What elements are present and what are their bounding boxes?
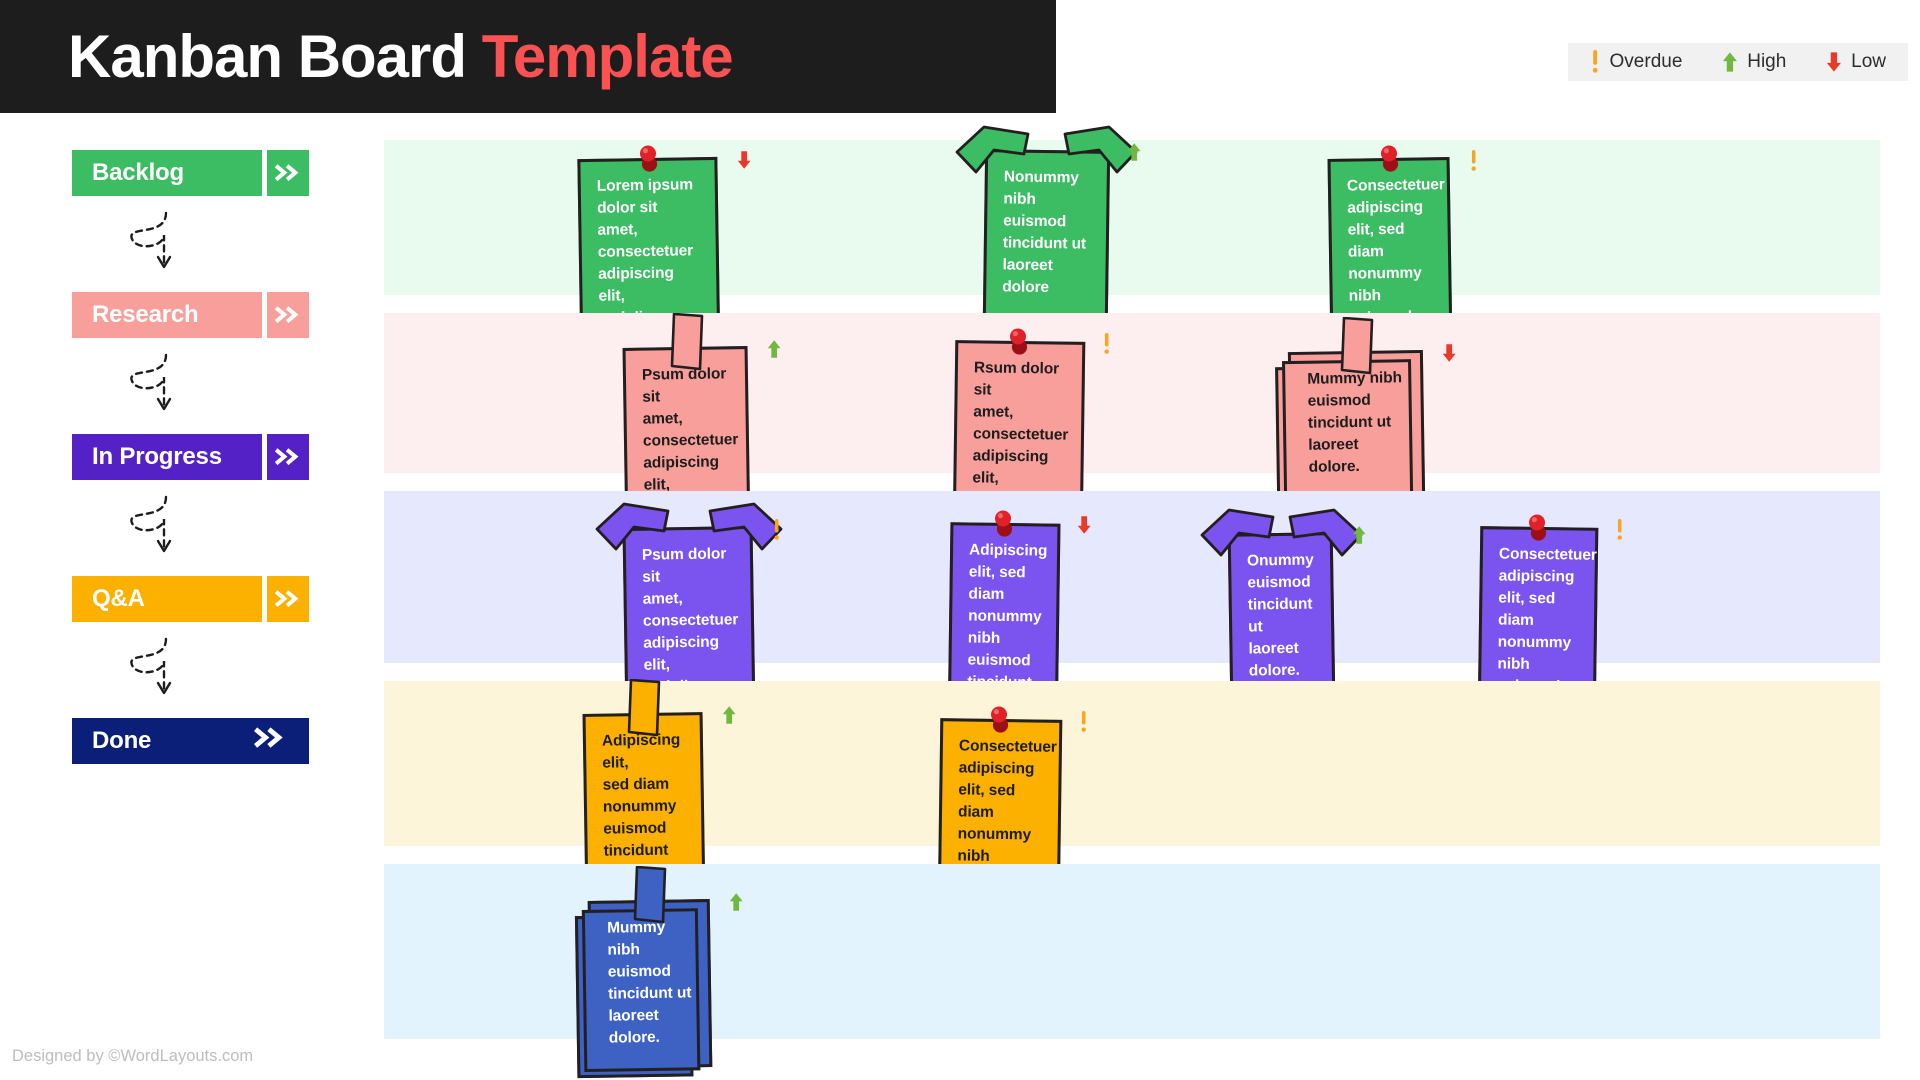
sticky-note-text: Adipiscing elit, sed diam nonummy euismo… — [602, 729, 686, 884]
exclamation-icon — [1079, 711, 1088, 733]
priority-flag-high — [729, 892, 743, 917]
priority-flag-high — [722, 705, 736, 730]
priority-flag-high — [767, 339, 781, 364]
sticky-note[interactable]: Mummy nibh euismod tincidunt ut laoreet … — [589, 900, 711, 1068]
board-rows: Lorem ipsum dolor sit amet, consectetuer… — [384, 140, 1880, 1057]
arrow-down-icon — [1442, 343, 1456, 363]
stage-label-4[interactable]: Done — [72, 718, 309, 764]
chevron-double-right-icon — [274, 448, 302, 465]
board-row-research: Psum dolor sit amet, consectetuer adipis… — [384, 313, 1880, 473]
stage-advance-icon[interactable] — [253, 727, 287, 755]
sidebar-stage-q-a: Q&A — [0, 576, 385, 718]
arrow-down-icon — [1826, 51, 1842, 73]
page-title: Kanban Board Template — [68, 27, 733, 87]
tape-strip-icon — [621, 679, 667, 741]
tape-corner-left — [954, 124, 1032, 191]
exclamation-icon — [1102, 333, 1111, 355]
pushpin-icon — [991, 509, 1017, 541]
arrow-up-icon — [1127, 142, 1141, 162]
stage-advance-button-2[interactable] — [267, 434, 309, 480]
arrow-down-icon — [1077, 515, 1091, 535]
chevron-double-right-icon — [274, 306, 302, 323]
chevron-double-right-icon — [274, 164, 302, 181]
priority-legend: OverdueHighLow — [1568, 43, 1908, 81]
legend-item-overdue: Overdue — [1590, 50, 1682, 74]
tape-strip-icon — [1334, 317, 1380, 379]
sticky-note[interactable]: Onummy euismod tincidunt ut laoreet dolo… — [1229, 533, 1334, 701]
sticky-note-text: Consectetuer adipiscing elit, sed diam n… — [1497, 543, 1579, 698]
priority-flag-high — [1352, 525, 1366, 550]
stage-connector-arrow-2 — [0, 480, 385, 576]
stage-label-0[interactable]: Backlog — [72, 150, 262, 196]
arrow-up-icon — [722, 705, 736, 725]
stage-connector-arrow-0 — [0, 196, 385, 292]
sticky-note-text: Rsum dolor sit amet, consectetuer adipis… — [972, 357, 1066, 512]
tape-corner-icon — [594, 501, 672, 563]
sticky-note[interactable]: Nonummy nibh euismod tincidunt ut laoree… — [984, 150, 1109, 318]
pushpin — [991, 509, 1017, 541]
priority-flag-low — [1442, 343, 1456, 368]
arrow-up-icon — [729, 892, 743, 912]
dashed-loop-arrow-icon — [120, 349, 182, 423]
stage-connector-arrow-3 — [0, 622, 385, 718]
sticky-note-text: Mummy nibh euismod tincidunt ut laoreet … — [607, 916, 693, 1049]
pushpin-icon — [1377, 144, 1403, 176]
priority-flag-low — [1077, 515, 1091, 540]
stage-sidebar: BacklogResearchIn ProgressQ&ADone — [0, 150, 385, 764]
board-row-in-progress: Psum dolor sit amet, consectetuer adipis… — [384, 491, 1880, 663]
arrow-up-icon — [1352, 525, 1366, 545]
title-banner: Kanban Board Template — [0, 0, 1056, 113]
legend-label: Overdue — [1610, 51, 1683, 73]
tape-strip — [1334, 317, 1380, 384]
stage-label-2[interactable]: In Progress — [72, 434, 262, 480]
board-row-backlog: Lorem ipsum dolor sit amet, consectetuer… — [384, 140, 1880, 295]
stage-advance-button-1[interactable] — [267, 292, 309, 338]
chevron-double-right-icon — [274, 590, 302, 607]
pushpin-icon — [1525, 513, 1551, 545]
board-row-q-a: Adipiscing elit, sed diam nonummy euismo… — [384, 681, 1880, 846]
legend-item-high: High — [1722, 51, 1786, 73]
stage-label-text: In Progress — [92, 443, 222, 471]
stage-connector-arrow-1 — [0, 338, 385, 434]
exclamation-icon — [1469, 150, 1478, 172]
tape-strip-icon — [664, 313, 710, 375]
sticky-note[interactable]: Mummy nibh euismod tincidunt ut laoreet … — [1289, 351, 1424, 497]
pushpin — [1525, 513, 1551, 545]
pushpin-icon — [987, 705, 1013, 737]
legend-label: High — [1747, 51, 1786, 73]
arrow-up-icon — [1722, 51, 1738, 73]
dashed-loop-arrow-icon — [120, 633, 182, 707]
footer-credit: Designed by ©WordLayouts.com — [12, 1047, 253, 1066]
exclamation-icon — [772, 519, 781, 541]
tape-strip — [627, 866, 673, 933]
priority-flag-overdue — [1079, 711, 1088, 738]
kanban-board-page: Kanban Board Template OverdueHighLow Bac… — [0, 0, 1920, 1080]
board-row-done: Mummy nibh euismod tincidunt ut laoreet … — [384, 864, 1880, 1039]
sidebar-stage-done: Done — [0, 718, 385, 764]
chevron-double-right-icon — [253, 727, 287, 748]
tape-corner-icon — [954, 124, 1032, 186]
pushpin — [1006, 327, 1032, 359]
stage-advance-button-3[interactable] — [267, 576, 309, 622]
tape-strip — [664, 313, 710, 380]
stage-label-3[interactable]: Q&A — [72, 576, 262, 622]
stage-label-1[interactable]: Research — [72, 292, 262, 338]
legend-item-low: Low — [1826, 51, 1886, 73]
exclamation-icon — [1615, 519, 1624, 541]
tape-corner-icon — [1199, 507, 1277, 569]
stage-label-text: Backlog — [92, 159, 184, 187]
priority-flag-overdue — [1615, 519, 1624, 546]
pushpin-icon — [636, 144, 662, 176]
legend-label: Low — [1851, 51, 1886, 73]
stage-advance-button-0[interactable] — [267, 150, 309, 196]
tape-strip-icon — [627, 866, 673, 928]
title-main: Kanban Board — [68, 23, 482, 90]
priority-flag-high — [1127, 142, 1141, 167]
stage-label-text: Research — [92, 301, 198, 329]
exclamation-icon — [1590, 50, 1600, 74]
stage-label-text: Q&A — [92, 585, 145, 613]
tape-corner-left — [594, 501, 672, 568]
sidebar-stage-in-progress: In Progress — [0, 434, 385, 576]
stage-label-text: Done — [92, 727, 151, 755]
pushpin-icon — [1006, 327, 1032, 359]
tape-strip — [621, 679, 667, 746]
tape-corner-left — [1199, 507, 1277, 574]
sticky-note-text: Consectetuer adipiscing elit, sed diam n… — [1347, 174, 1433, 329]
priority-flag-overdue — [772, 519, 781, 546]
pushpin — [987, 705, 1013, 737]
arrow-up-icon — [767, 339, 781, 359]
sidebar-stage-backlog: Backlog — [0, 150, 385, 292]
pushpin — [1377, 144, 1403, 176]
priority-flag-overdue — [1102, 333, 1111, 360]
dashed-loop-arrow-icon — [120, 207, 182, 281]
arrow-down-icon — [737, 150, 751, 170]
pushpin — [636, 144, 662, 176]
priority-flag-low — [737, 150, 751, 175]
title-accent: Template — [482, 23, 733, 90]
dashed-loop-arrow-icon — [120, 491, 182, 565]
priority-flag-overdue — [1469, 150, 1478, 177]
sidebar-stage-research: Research — [0, 292, 385, 434]
